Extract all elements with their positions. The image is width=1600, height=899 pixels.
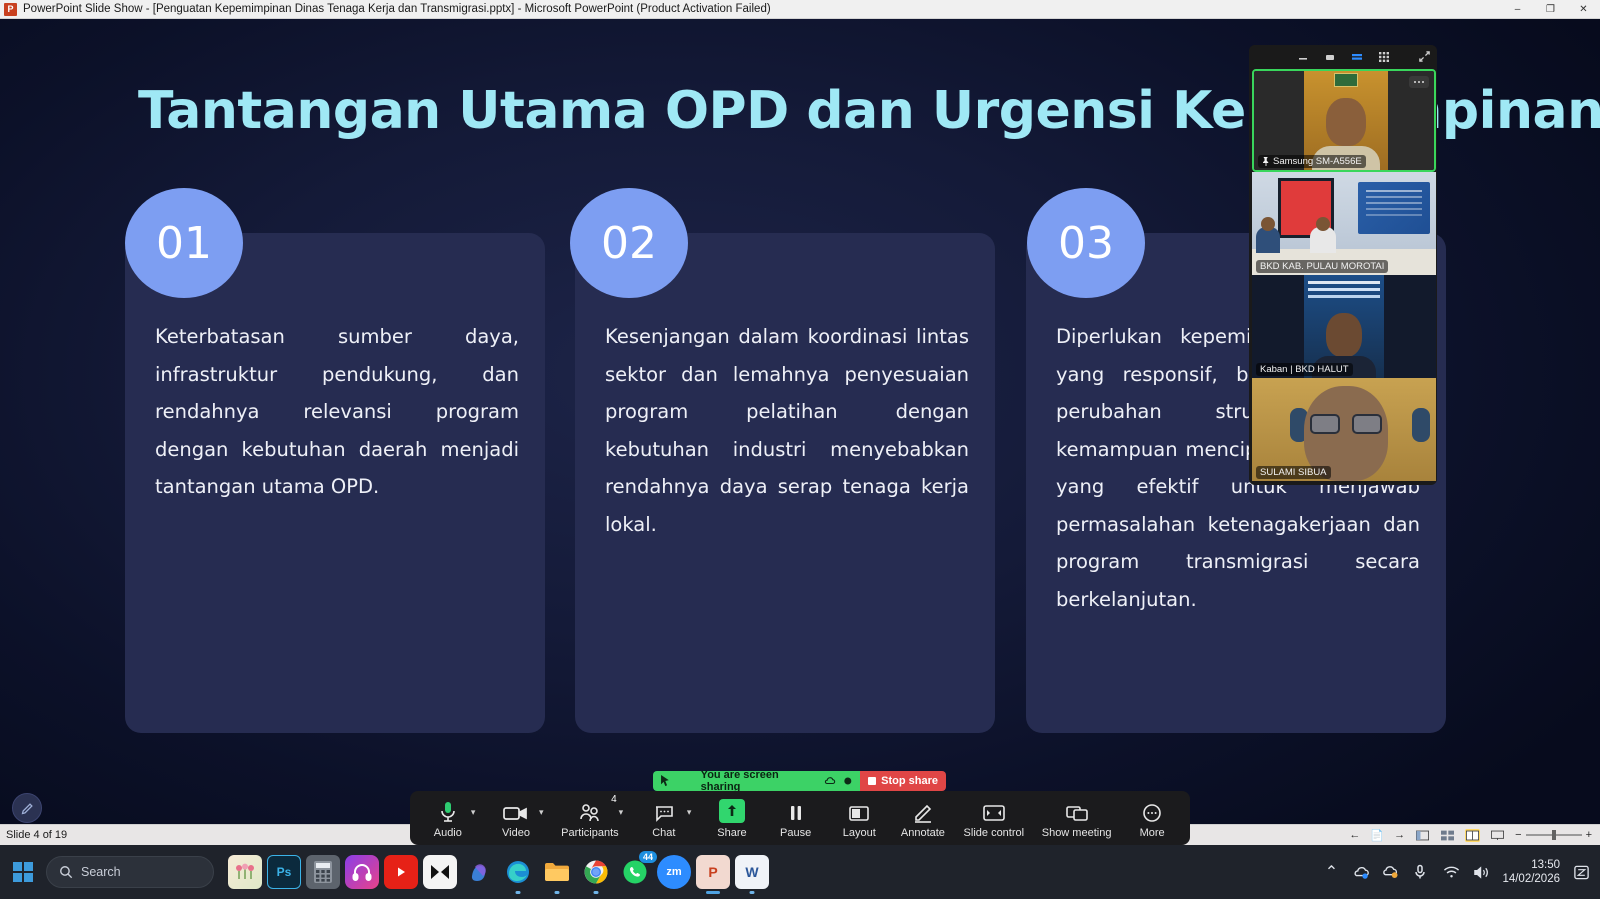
speaker-view-glyph xyxy=(1351,51,1363,63)
stop-share-button[interactable]: Stop share xyxy=(860,771,946,791)
slide-control-glyph xyxy=(982,803,1006,823)
previous-arrow-icon[interactable]: ← xyxy=(1349,829,1360,841)
zoom-meeting-toolbar: Audio ▾ Video ▾ 4 xyxy=(410,791,1190,845)
tile-more-options-icon[interactable] xyxy=(1409,76,1429,88)
upload-arrow-glyph xyxy=(725,804,739,818)
gallery-view-icon[interactable] xyxy=(1377,50,1391,64)
active-indicator xyxy=(706,891,720,894)
chat-icon xyxy=(653,797,675,823)
status-bar-tools: ← 📄 → xyxy=(1349,829,1600,842)
mic-icon[interactable] xyxy=(1412,863,1430,881)
pause-glyph xyxy=(786,803,806,823)
annotate-button[interactable]: Annotate xyxy=(900,792,946,844)
running-indicator xyxy=(516,891,521,894)
reading-view-icon xyxy=(1466,830,1479,841)
stop-share-label: Stop share xyxy=(881,775,938,787)
calculator-glyph xyxy=(314,861,332,883)
video-button[interactable]: Video xyxy=(493,792,539,844)
view-button-normal[interactable] xyxy=(1415,829,1430,842)
running-indicator xyxy=(594,891,599,894)
screen-share-indicator: You are screen sharing Stop share xyxy=(653,771,946,791)
cursor-icon xyxy=(660,775,671,787)
share-button[interactable]: Share xyxy=(709,792,755,844)
show-meeting-label: Show meeting xyxy=(1042,827,1112,839)
headphones-glyph xyxy=(352,863,372,881)
show-meeting-button[interactable]: Show meeting xyxy=(1042,792,1112,844)
zoom-panel-header xyxy=(1249,45,1437,69)
sharing-status: You are screen sharing xyxy=(653,771,860,791)
participants-group: 4 Participants ▾ xyxy=(561,792,623,844)
start-button[interactable] xyxy=(0,862,46,882)
chat-label: Chat xyxy=(652,827,675,839)
desktop-screen: P PowerPoint Slide Show - [Penguatan Kep… xyxy=(0,0,1600,899)
share-icon-box xyxy=(719,799,745,823)
audio-group: Audio ▾ xyxy=(425,792,476,844)
zoom-out-icon[interactable]: − xyxy=(1515,829,1521,841)
chat-group: Chat ▾ xyxy=(641,792,692,844)
more-button[interactable]: More xyxy=(1129,792,1175,844)
cloud-icon[interactable] xyxy=(824,775,836,787)
zoom-slider[interactable]: − + xyxy=(1515,829,1592,841)
notification-glyph xyxy=(1573,864,1590,881)
participant-name-4: SULAMI SIBUA xyxy=(1256,466,1331,479)
video-group: Video ▾ xyxy=(493,792,544,844)
powerpoint-logo-icon: P xyxy=(4,3,17,16)
video-caret-icon[interactable]: ▾ xyxy=(539,807,544,818)
video-label: Video xyxy=(502,827,530,839)
headphones-icon[interactable] xyxy=(345,855,379,889)
slide-counter: Slide 4 of 19 xyxy=(0,829,67,841)
participant-name-3: Kaban | BKD HALUT xyxy=(1256,363,1353,376)
annotate-label: Annotate xyxy=(901,827,945,839)
flowers-icon xyxy=(234,863,256,881)
participants-label: Participants xyxy=(561,827,618,839)
play-glyph xyxy=(394,865,408,879)
photoshop-icon[interactable]: Ps xyxy=(267,855,301,889)
capcut-glyph xyxy=(430,864,450,880)
youtube-icon[interactable] xyxy=(384,855,418,889)
participant-tile-3[interactable]: Kaban | BKD HALUT xyxy=(1252,275,1436,378)
word-icon[interactable]: W xyxy=(735,855,769,889)
zoom-video-panel[interactable]: Samsung SM-A556E BKD KAB. PULAU MOROTAI xyxy=(1249,45,1437,485)
share-screen-icon xyxy=(719,797,745,823)
taskbar-app-icons: Ps xyxy=(228,855,769,889)
more-label: More xyxy=(1140,827,1165,839)
participants-glyph xyxy=(578,803,602,823)
notification-icon[interactable] xyxy=(1572,863,1590,881)
microphone-glyph xyxy=(438,801,458,823)
layout-label: Layout xyxy=(843,827,876,839)
zoom-icon[interactable]: zm xyxy=(657,855,691,889)
onedrive-glyph xyxy=(1352,864,1370,880)
card-01: Keterbatasan sumber daya, infrastruktur … xyxy=(125,233,545,733)
camera-glyph xyxy=(503,803,529,823)
search-icon xyxy=(59,865,73,879)
pencil-icon xyxy=(20,801,35,816)
participant-name-4-label: SULAMI SIBUA xyxy=(1260,467,1327,478)
volume-icon[interactable] xyxy=(1472,863,1490,881)
minimize-glyph xyxy=(1297,51,1309,63)
clock-time: 13:50 xyxy=(1531,859,1560,871)
search-input[interactable]: Search xyxy=(46,856,214,888)
tray-chevron-icon[interactable]: ⌃ xyxy=(1322,863,1340,881)
show-meeting-glyph xyxy=(1065,803,1089,823)
pencil-icon xyxy=(912,797,934,823)
stop-square-icon xyxy=(868,777,876,785)
capcut-icon[interactable] xyxy=(423,855,457,889)
system-tray: ⌃ xyxy=(1322,858,1600,886)
normal-view-icon xyxy=(1416,830,1429,841)
view-button-reading[interactable] xyxy=(1465,829,1480,842)
expand-glyph xyxy=(1418,50,1431,63)
slide-control-button[interactable]: Slide control xyxy=(964,792,1025,844)
participants-count: 4 xyxy=(611,794,617,805)
notes-icon[interactable]: 📄 xyxy=(1370,829,1384,842)
windows-taskbar: Search Ps xyxy=(0,845,1600,899)
show-meeting-icon xyxy=(1065,797,1089,823)
more-glyph xyxy=(1141,803,1163,823)
participants-button[interactable]: 4 Participants xyxy=(561,792,618,844)
windows-logo-icon xyxy=(13,862,33,882)
card-02-text: Kesenjangan dalam koordinasi lintas sekt… xyxy=(605,318,969,543)
running-indicator xyxy=(750,891,755,894)
participant-name-3-label: Kaban | BKD HALUT xyxy=(1260,364,1349,375)
maximize-button[interactable]: ❐ xyxy=(1534,0,1567,19)
taskbar-clock[interactable]: 13:50 14/02/2026 xyxy=(1502,858,1560,886)
minimize-icon[interactable] xyxy=(1296,50,1310,64)
participant-tile-1[interactable]: Samsung SM-A556E xyxy=(1252,69,1436,172)
pause-label: Pause xyxy=(780,827,811,839)
audio-button[interactable]: Audio xyxy=(425,792,471,844)
pin-icon xyxy=(1262,157,1270,166)
participant-name-1-label: Samsung SM-A556E xyxy=(1273,156,1362,167)
pencil-glyph xyxy=(912,803,934,823)
onedrive-icon[interactable] xyxy=(1352,863,1370,881)
zoom-track[interactable] xyxy=(1526,834,1582,836)
folder-glyph xyxy=(544,861,570,883)
powerpoint-title-bar: P PowerPoint Slide Show - [Penguatan Kep… xyxy=(0,0,1600,19)
participant-name-1: Samsung SM-A556E xyxy=(1258,155,1366,168)
audio-caret-icon[interactable]: ▾ xyxy=(471,807,476,818)
chat-button[interactable]: Chat xyxy=(641,792,687,844)
card-03-number: 03 xyxy=(1027,188,1145,298)
card-01-number: 01 xyxy=(125,188,243,298)
layout-button[interactable]: Layout xyxy=(836,792,882,844)
participant-name-2-label: BKD KAB. PULAU MOROTAI xyxy=(1260,261,1384,272)
share-label: Share xyxy=(717,827,746,839)
edge-glyph xyxy=(505,859,531,885)
pause-icon xyxy=(786,797,806,823)
card-01-text: Keterbatasan sumber daya, infrastruktur … xyxy=(155,318,519,506)
slide-sorter-icon xyxy=(1441,830,1454,841)
whatsapp-icon[interactable]: 44 xyxy=(618,855,652,889)
participant-tile-2[interactable]: BKD KAB. PULAU MOROTAI xyxy=(1252,172,1436,275)
participants-icon xyxy=(578,797,602,823)
chrome-icon[interactable] xyxy=(579,855,613,889)
slide-show-icon xyxy=(1491,830,1504,841)
participant-name-2: BKD KAB. PULAU MOROTAI xyxy=(1256,260,1388,273)
restore-glyph xyxy=(1324,51,1336,63)
weather-widget[interactable] xyxy=(228,855,262,889)
close-button[interactable]: ✕ xyxy=(1567,0,1600,19)
sharing-status-text: You are screen sharing xyxy=(701,771,818,791)
view-layout-icon[interactable] xyxy=(1350,50,1364,64)
gallery-glyph xyxy=(1378,51,1390,63)
search-placeholder: Search xyxy=(81,865,121,879)
microphone-icon xyxy=(438,797,458,823)
participant-tiles: Samsung SM-A556E BKD KAB. PULAU MOROTAI xyxy=(1252,69,1436,481)
card-02-number: 02 xyxy=(570,188,688,298)
safety-icon[interactable] xyxy=(1382,863,1400,881)
next-arrow-icon[interactable]: → xyxy=(1394,829,1405,841)
chat-caret-icon[interactable]: ▾ xyxy=(687,807,692,818)
copilot-icon[interactable] xyxy=(462,855,496,889)
restore-icon[interactable] xyxy=(1323,50,1337,64)
window-controls: – ❐ ✕ xyxy=(1501,0,1600,19)
view-button-sorter[interactable] xyxy=(1440,829,1455,842)
calculator-icon[interactable] xyxy=(306,855,340,889)
layout-glyph xyxy=(848,804,870,823)
running-indicator xyxy=(555,891,560,894)
safety-glyph xyxy=(1382,864,1400,880)
slide-control-icon xyxy=(982,797,1006,823)
wifi-icon[interactable] xyxy=(1442,863,1460,881)
whatsapp-badge: 44 xyxy=(639,851,657,863)
camera-icon xyxy=(503,797,529,823)
clock-date: 14/02/2026 xyxy=(1502,873,1560,885)
zoom-knob[interactable] xyxy=(1552,830,1556,840)
pause-button[interactable]: Pause xyxy=(773,792,819,844)
mic-glyph xyxy=(1413,864,1429,880)
participant-tile-4[interactable]: SULAMI SIBUA xyxy=(1252,378,1436,481)
recording-icon[interactable] xyxy=(842,775,854,787)
chrome-glyph xyxy=(583,859,609,885)
card-02: Kesenjangan dalam koordinasi lintas sekt… xyxy=(575,233,995,733)
window-title: PowerPoint Slide Show - [Penguatan Kepem… xyxy=(23,3,771,15)
participants-caret-icon[interactable]: ▾ xyxy=(619,807,624,818)
zoom-in-icon[interactable]: + xyxy=(1586,829,1592,841)
edge-icon[interactable] xyxy=(501,855,535,889)
copilot-glyph xyxy=(466,859,492,885)
powerpoint-icon[interactable]: P xyxy=(696,855,730,889)
chat-glyph xyxy=(653,803,675,823)
minimize-button[interactable]: – xyxy=(1501,0,1534,19)
file-explorer-icon[interactable] xyxy=(540,855,574,889)
annotation-pen-button[interactable] xyxy=(12,793,42,823)
more-icon xyxy=(1141,797,1163,823)
view-button-slideshow[interactable] xyxy=(1490,829,1505,842)
slide-control-label: Slide control xyxy=(964,827,1025,839)
layout-icon xyxy=(848,797,870,823)
expand-icon[interactable] xyxy=(1418,50,1431,63)
volume-glyph xyxy=(1473,865,1490,880)
audio-label: Audio xyxy=(434,827,462,839)
wifi-glyph xyxy=(1443,865,1460,879)
